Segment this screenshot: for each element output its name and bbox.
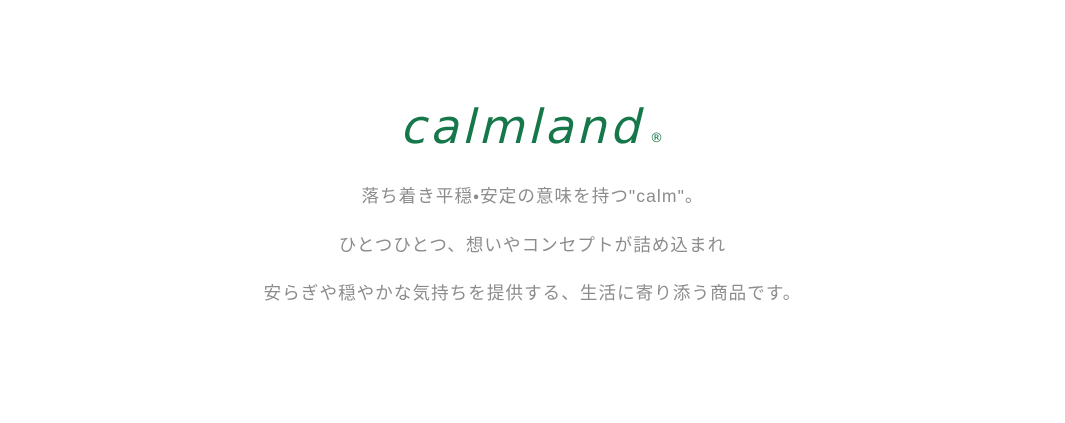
brand-logo: calmland ®: [402, 104, 663, 158]
brand-wordmark: calmland: [402, 104, 647, 151]
tagline-line-2: ひとつひとつ、想いやコンセプトが詰め込まれ: [339, 237, 726, 255]
brand-hero-panel: calmland ® 落ち着き平穏・安定の意味を持つ"calm"。 ひとつひとつ…: [0, 0, 1065, 423]
tagline-line-3: 安らぎや穏やかな気持ちを提供する、生活に寄り添う商品です。: [264, 285, 802, 303]
registered-trademark-icon: ®: [650, 132, 663, 145]
tagline-line-1: 落ち着き平穏・安定の意味を持つ"calm"。: [361, 188, 703, 206]
brand-tagline: 落ち着き平穏・安定の意味を持つ"calm"。 ひとつひとつ、想いやコンセプトが詰…: [0, 188, 1065, 303]
